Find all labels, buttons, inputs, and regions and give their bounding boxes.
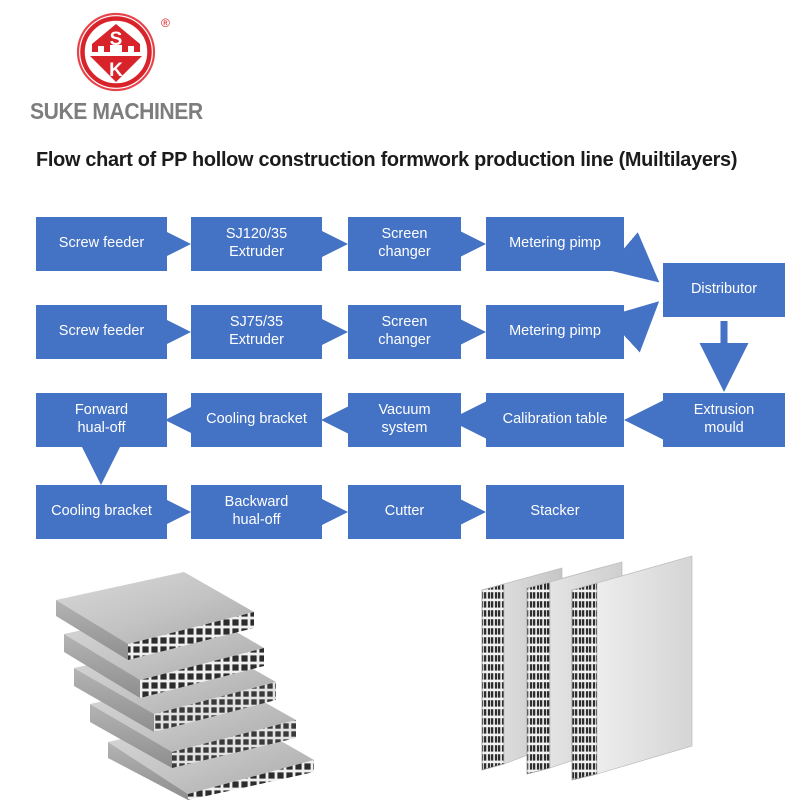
node-backward-haul-off[interactable]: Backward hual-off: [191, 485, 322, 539]
node-sj75-extruder[interactable]: SJ75/35 Extruder: [191, 305, 322, 359]
node-calibration-table[interactable]: Calibration table: [486, 393, 624, 447]
node-cooling-bracket-2[interactable]: Cooling bracket: [36, 485, 167, 539]
node-stacker[interactable]: Stacker: [486, 485, 624, 539]
node-forward-haul-off[interactable]: Forward hual-off: [36, 393, 167, 447]
node-screen-changer-2[interactable]: Screen changer: [348, 305, 461, 359]
node-screw-feeder-1[interactable]: Screw feeder: [36, 217, 167, 271]
node-metering-pimp-1[interactable]: Metering pimp: [486, 217, 624, 271]
node-screw-feeder-2[interactable]: Screw feeder: [36, 305, 167, 359]
node-distributor[interactable]: Distributor: [663, 263, 785, 317]
node-vacuum-system[interactable]: Vacuum system: [348, 393, 461, 447]
stacked-hollow-formwork-panels-photo: [42, 546, 320, 800]
node-cutter[interactable]: Cutter: [348, 485, 461, 539]
three-standing-formwork-panels-photo: [452, 546, 792, 796]
node-extrusion-mould[interactable]: Extrusion mould: [663, 393, 785, 447]
node-cooling-bracket-1[interactable]: Cooling bracket: [191, 393, 322, 447]
node-sj120-extruder[interactable]: SJ120/35 Extruder: [191, 217, 322, 271]
node-screen-changer-1[interactable]: Screen changer: [348, 217, 461, 271]
node-metering-pimp-2[interactable]: Metering pimp: [486, 305, 624, 359]
flowchart: Screw feeder SJ120/35 Extruder Screen ch…: [0, 0, 800, 560]
